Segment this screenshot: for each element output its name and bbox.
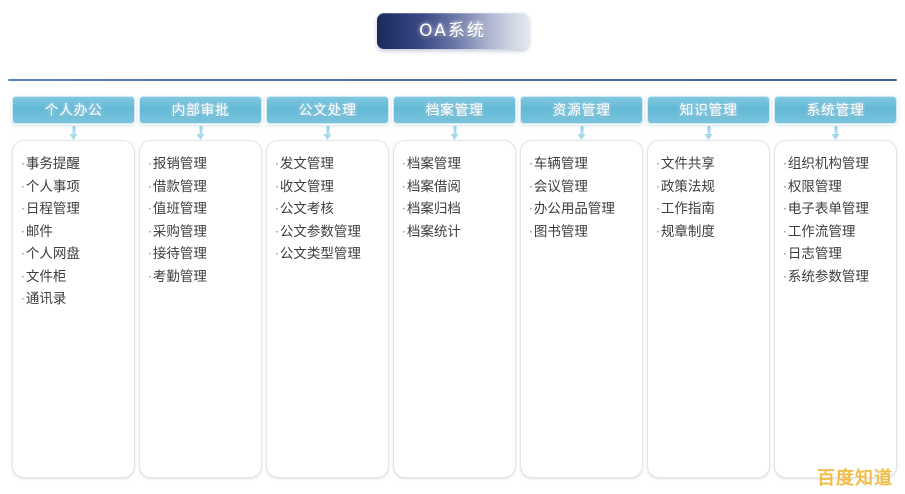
bullet-icon: ·	[783, 270, 787, 284]
list-item-label: 接待管理	[153, 246, 207, 262]
list-item-label: 报销管理	[153, 156, 207, 172]
list-item[interactable]: ·文件柜	[21, 266, 128, 289]
list-item[interactable]: ·日程管理	[21, 198, 128, 221]
list-item-label: 个人事项	[26, 179, 80, 195]
list-item-label: 会议管理	[534, 179, 588, 195]
arrow-down-icon	[196, 126, 205, 141]
list-item[interactable]: ·采购管理	[148, 221, 255, 244]
arrow-head	[450, 134, 458, 140]
list-item[interactable]: ·个人网盘	[21, 243, 128, 266]
bullet-icon: ·	[148, 180, 152, 194]
list-item-label: 发文管理	[280, 156, 334, 172]
column-header-4[interactable]: 档案管理	[393, 96, 516, 124]
module-column: 知识管理·文件共享·政策法规·工作指南·规章制度	[647, 96, 770, 478]
list-item[interactable]: ·公文参数管理	[275, 221, 382, 244]
list-item-label: 事务提醒	[26, 156, 80, 172]
column-body: ·报销管理·借款管理·值班管理·采购管理·接待管理·考勤管理	[139, 140, 262, 478]
bullet-icon: ·	[656, 202, 660, 216]
list-item[interactable]: ·日志管理	[783, 243, 890, 266]
bullet-icon: ·	[402, 180, 406, 194]
list-item-label: 权限管理	[788, 179, 842, 195]
arrow-head	[69, 134, 77, 140]
module-columns: 个人办公·事务提醒·个人事项·日程管理·邮件·个人网盘·文件柜·通讯录内部审批·…	[12, 96, 894, 478]
list-item[interactable]: ·图书管理	[529, 221, 636, 244]
bullet-icon: ·	[21, 270, 25, 284]
list-item[interactable]: ·规章制度	[656, 221, 763, 244]
bullet-icon: ·	[21, 180, 25, 194]
column-body: ·车辆管理·会议管理·办公用品管理·图书管理	[520, 140, 643, 478]
column-header-5[interactable]: 资源管理	[520, 96, 643, 124]
list-item-label: 文件共享	[661, 156, 715, 172]
list-item[interactable]: ·报销管理	[148, 153, 255, 176]
list-item-label: 车辆管理	[534, 156, 588, 172]
title-bar: OA系统	[0, 13, 905, 49]
bullet-icon: ·	[402, 157, 406, 171]
bullet-icon: ·	[148, 157, 152, 171]
list-item-label: 系统参数管理	[788, 269, 869, 285]
list-item-label: 值班管理	[153, 201, 207, 217]
list-item[interactable]: ·工作流管理	[783, 221, 890, 244]
module-column: 系统管理·组织机构管理·权限管理·电子表单管理·工作流管理·日志管理·系统参数管…	[774, 96, 897, 478]
bullet-icon: ·	[148, 247, 152, 261]
header-divider	[8, 79, 897, 81]
list-item-label: 邮件	[26, 224, 53, 240]
list-item[interactable]: ·工作指南	[656, 198, 763, 221]
module-column: 公文处理·发文管理·收文管理·公文考核·公文参数管理·公文类型管理	[266, 96, 389, 478]
arrow-down-icon	[704, 126, 713, 141]
list-item-label: 电子表单管理	[788, 201, 869, 217]
bullet-icon: ·	[148, 225, 152, 239]
list-item-label: 文件柜	[26, 269, 67, 285]
bullet-icon: ·	[529, 202, 533, 216]
list-item[interactable]: ·通讯录	[21, 288, 128, 311]
column-header-2[interactable]: 内部审批	[139, 96, 262, 124]
list-item-label: 档案管理	[407, 156, 461, 172]
bullet-icon: ·	[21, 157, 25, 171]
bullet-icon: ·	[529, 225, 533, 239]
list-item[interactable]: ·收文管理	[275, 176, 382, 199]
column-header-1[interactable]: 个人办公	[12, 96, 135, 124]
list-item[interactable]: ·邮件	[21, 221, 128, 244]
bullet-icon: ·	[21, 247, 25, 261]
list-item[interactable]: ·个人事项	[21, 176, 128, 199]
bullet-icon: ·	[783, 247, 787, 261]
list-item[interactable]: ·借款管理	[148, 176, 255, 199]
module-column: 个人办公·事务提醒·个人事项·日程管理·邮件·个人网盘·文件柜·通讯录	[12, 96, 135, 478]
bullet-icon: ·	[529, 180, 533, 194]
list-item-label: 档案归档	[407, 201, 461, 217]
column-body: ·事务提醒·个人事项·日程管理·邮件·个人网盘·文件柜·通讯录	[12, 140, 135, 478]
list-item-label: 公文考核	[280, 201, 334, 217]
list-item-label: 档案借阅	[407, 179, 461, 195]
bullet-icon: ·	[148, 202, 152, 216]
arrow-head	[577, 134, 585, 140]
arrow-down-icon	[69, 126, 78, 141]
arrow-head	[704, 134, 712, 140]
list-item[interactable]: ·档案统计	[402, 221, 509, 244]
bullet-icon: ·	[21, 292, 25, 306]
list-item[interactable]: ·政策法规	[656, 176, 763, 199]
bullet-icon: ·	[275, 157, 279, 171]
list-item[interactable]: ·文件共享	[656, 153, 763, 176]
list-item[interactable]: ·会议管理	[529, 176, 636, 199]
column-body: ·组织机构管理·权限管理·电子表单管理·工作流管理·日志管理·系统参数管理	[774, 140, 897, 478]
module-column: 资源管理·车辆管理·会议管理·办公用品管理·图书管理	[520, 96, 643, 478]
list-item-label: 工作指南	[661, 201, 715, 217]
list-item[interactable]: ·权限管理	[783, 176, 890, 199]
arrow-down-icon	[577, 126, 586, 141]
bullet-icon: ·	[21, 202, 25, 216]
arrow-head	[196, 134, 204, 140]
list-item[interactable]: ·办公用品管理	[529, 198, 636, 221]
column-body: ·档案管理·档案借阅·档案归档·档案统计	[393, 140, 516, 478]
list-item-label: 办公用品管理	[534, 201, 615, 217]
page-title: OA系统	[377, 13, 529, 49]
list-item[interactable]: ·公文类型管理	[275, 243, 382, 266]
list-item-label: 收文管理	[280, 179, 334, 195]
list-item[interactable]: ·值班管理	[148, 198, 255, 221]
column-header-6[interactable]: 知识管理	[647, 96, 770, 124]
list-item-label: 采购管理	[153, 224, 207, 240]
list-item-label: 日志管理	[788, 246, 842, 262]
list-item-label: 考勤管理	[153, 269, 207, 285]
bullet-icon: ·	[275, 202, 279, 216]
list-item-label: 图书管理	[534, 224, 588, 240]
list-item[interactable]: ·电子表单管理	[783, 198, 890, 221]
bullet-icon: ·	[783, 157, 787, 171]
module-column: 内部审批·报销管理·借款管理·值班管理·采购管理·接待管理·考勤管理	[139, 96, 262, 478]
bullet-icon: ·	[783, 180, 787, 194]
bullet-icon: ·	[783, 225, 787, 239]
bullet-icon: ·	[783, 202, 787, 216]
watermark: 百度知道	[817, 464, 893, 490]
bullet-icon: ·	[656, 225, 660, 239]
bullet-icon: ·	[656, 157, 660, 171]
list-item[interactable]: ·车辆管理	[529, 153, 636, 176]
list-item-label: 档案统计	[407, 224, 461, 240]
list-item[interactable]: ·发文管理	[275, 153, 382, 176]
list-item-label: 工作流管理	[788, 224, 856, 240]
column-body: ·文件共享·政策法规·工作指南·规章制度	[647, 140, 770, 478]
bullet-icon: ·	[402, 202, 406, 216]
list-item-label: 公文类型管理	[280, 246, 361, 262]
bullet-icon: ·	[529, 157, 533, 171]
list-item[interactable]: ·档案管理	[402, 153, 509, 176]
list-item-label: 规章制度	[661, 224, 715, 240]
arrow-down-icon	[323, 126, 332, 141]
list-item[interactable]: ·接待管理	[148, 243, 255, 266]
list-item[interactable]: ·组织机构管理	[783, 153, 890, 176]
bullet-icon: ·	[656, 180, 660, 194]
arrow-head	[831, 134, 839, 140]
list-item-label: 通讯录	[26, 291, 67, 307]
list-item-label: 借款管理	[153, 179, 207, 195]
bullet-icon: ·	[275, 180, 279, 194]
bullet-icon: ·	[148, 270, 152, 284]
list-item-label: 政策法规	[661, 179, 715, 195]
list-item[interactable]: ·系统参数管理	[783, 266, 890, 289]
list-item-label: 个人网盘	[26, 246, 80, 262]
column-header-7[interactable]: 系统管理	[774, 96, 897, 124]
arrow-down-icon	[831, 126, 840, 141]
list-item-label: 组织机构管理	[788, 156, 869, 172]
column-header-3[interactable]: 公文处理	[266, 96, 389, 124]
arrow-head	[323, 134, 331, 140]
arrow-down-icon	[450, 126, 459, 141]
list-item[interactable]: ·事务提醒	[21, 153, 128, 176]
list-item-label: 日程管理	[26, 201, 80, 217]
bullet-icon: ·	[402, 225, 406, 239]
list-item[interactable]: ·公文考核	[275, 198, 382, 221]
column-body: ·发文管理·收文管理·公文考核·公文参数管理·公文类型管理	[266, 140, 389, 478]
list-item[interactable]: ·档案归档	[402, 198, 509, 221]
list-item[interactable]: ·档案借阅	[402, 176, 509, 199]
module-column: 档案管理·档案管理·档案借阅·档案归档·档案统计	[393, 96, 516, 478]
bullet-icon: ·	[275, 225, 279, 239]
bullet-icon: ·	[275, 247, 279, 261]
list-item-label: 公文参数管理	[280, 224, 361, 240]
bullet-icon: ·	[21, 225, 25, 239]
list-item[interactable]: ·考勤管理	[148, 266, 255, 289]
